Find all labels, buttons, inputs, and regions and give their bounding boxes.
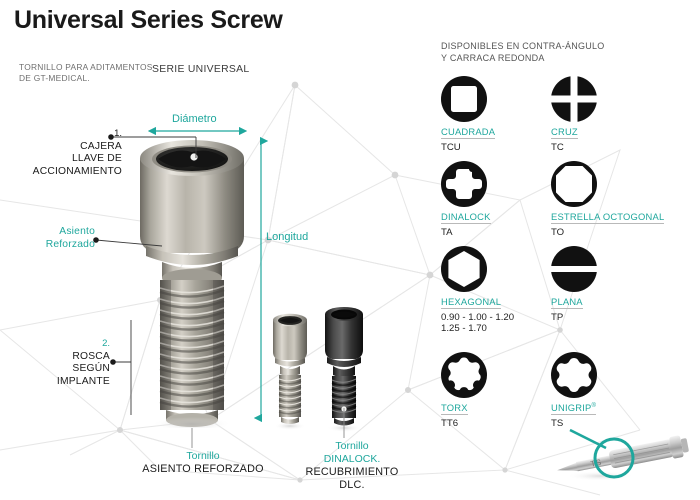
drive-item-cuadrada[interactable]: CUADRADA TCU — [441, 76, 556, 153]
caption-dinalock-screw: Tornillo DINALOCK. RECUBRIMIENTO DLC. — [292, 440, 412, 492]
callout-asiento-reforzado: Asiento Reforzado — [10, 226, 95, 251]
callout-asiento-line1: Asiento — [10, 226, 95, 239]
drive-code-torx: TT6 — [441, 418, 556, 429]
drive-item-hexagonal[interactable]: HEXAGONAL 0.90 - 1.00 - 1.20 1.25 - 1.70 — [441, 246, 556, 334]
caption-dinalock-top: Tornillo — [292, 440, 412, 453]
subtitle-small: TORNILLO PARA ADITAMENTOS DE GT-MEDICAL. — [19, 62, 154, 84]
torx-drive-icon — [441, 352, 487, 398]
caption-universal-top: Tornillo — [118, 450, 288, 463]
drive-code-hexagonal-2: 1.25 - 1.70 — [441, 323, 556, 334]
drive-code-plana: TP — [551, 312, 666, 323]
panel-heading-line2: Y CARRACA REDONDA — [441, 53, 545, 63]
drive-code-hexagonal: 0.90 - 1.00 - 1.20 — [441, 312, 556, 323]
callout-cajera: 1. CAJERA LLAVE DE ACCIONAMIENTO — [10, 126, 122, 178]
drive-label-torx: TORX — [441, 402, 468, 415]
drive-label-cuadrada: CUADRADA — [441, 126, 495, 139]
drive-item-estrella-octogonal[interactable]: ESTRELLA OCTOGONAL TO — [551, 161, 666, 238]
drive-label-cruz: CRUZ — [551, 126, 578, 139]
subtitle-series: SERIE UNIVERSAL — [152, 64, 249, 75]
octagon-star-drive-icon — [551, 161, 597, 207]
dinalock-drive-icon — [441, 161, 487, 207]
caption-dinalock-mid: DINALOCK. — [292, 453, 412, 466]
drive-label-plana: PLANA — [551, 296, 583, 309]
drive-item-torx[interactable]: TORX TT6 — [441, 352, 556, 429]
driver-tool-illustration: TS — [540, 418, 700, 498]
callout-cajera-line3: ACCIONAMIENTO — [10, 166, 122, 179]
unigrip-drive-icon — [551, 352, 597, 398]
drive-item-plana[interactable]: PLANA TP — [551, 246, 666, 323]
panel-heading-line1: DISPONIBLES EN CONTRA-ÁNGULO — [441, 41, 605, 51]
callout-rosca-line2: SEGÚN — [10, 363, 110, 376]
callout-cajera-line1: CAJERA — [10, 141, 122, 154]
drive-item-cruz[interactable]: CRUZ TC — [551, 76, 666, 153]
drive-label-unigrip-sup: ® — [591, 403, 596, 409]
callout-rosca: 2. ROSCA SEGÚN IMPLANTE — [10, 336, 110, 388]
drive-code-dinalock: TA — [441, 227, 556, 238]
callout-rosca-line1: ROSCA — [10, 351, 110, 364]
flat-drive-icon — [551, 246, 597, 292]
drive-code-cuadrada: TCU — [441, 142, 556, 153]
square-drive-icon — [441, 76, 487, 122]
panel-heading: DISPONIBLES EN CONTRA-ÁNGULO Y CARRACA R… — [441, 41, 661, 64]
page-title: Universal Series Screw — [14, 6, 283, 35]
hexagon-drive-icon — [441, 246, 487, 292]
subtitle-small-block: TORNILLO PARA ADITAMENTOS DE GT-MEDICAL. — [19, 62, 154, 84]
dimension-label-longitud: Longitud — [266, 231, 308, 243]
drive-label-hexagonal: HEXAGONAL — [441, 296, 501, 309]
drive-code-estrella-octogonal: TO — [551, 227, 666, 238]
drive-label-dinalock: DINALOCK — [441, 211, 491, 224]
dimension-label-diametro: Diámetro — [172, 113, 217, 125]
infographic-root: Universal Series Screw TORNILLO PARA ADI… — [0, 0, 700, 500]
callout-rosca-line3: IMPLANTE — [10, 376, 110, 389]
caption-universal-bottom: ASIENTO REFORZADO — [118, 463, 288, 476]
callout-asiento-line2: Reforzado — [10, 239, 95, 252]
drive-item-dinalock[interactable]: DINALOCK TA — [441, 161, 556, 238]
drive-label-unigrip-text: UNIGRIP — [551, 402, 591, 413]
callout-rosca-number: 2. — [102, 338, 110, 349]
drive-label-unigrip: UNIGRIP® — [551, 402, 596, 415]
drive-label-estrella-octogonal: ESTRELLA OCTOGONAL — [551, 211, 664, 224]
callout-cajera-line2: LLAVE DE — [10, 153, 122, 166]
drive-code-cruz: TC — [551, 142, 666, 153]
callout-cajera-number: 1. — [114, 128, 122, 139]
caption-dinalock-bottom: RECUBRIMIENTO DLC. — [292, 466, 412, 492]
cross-drive-icon — [551, 76, 597, 122]
caption-universal-screw: Tornillo ASIENTO REFORZADO — [118, 450, 288, 476]
